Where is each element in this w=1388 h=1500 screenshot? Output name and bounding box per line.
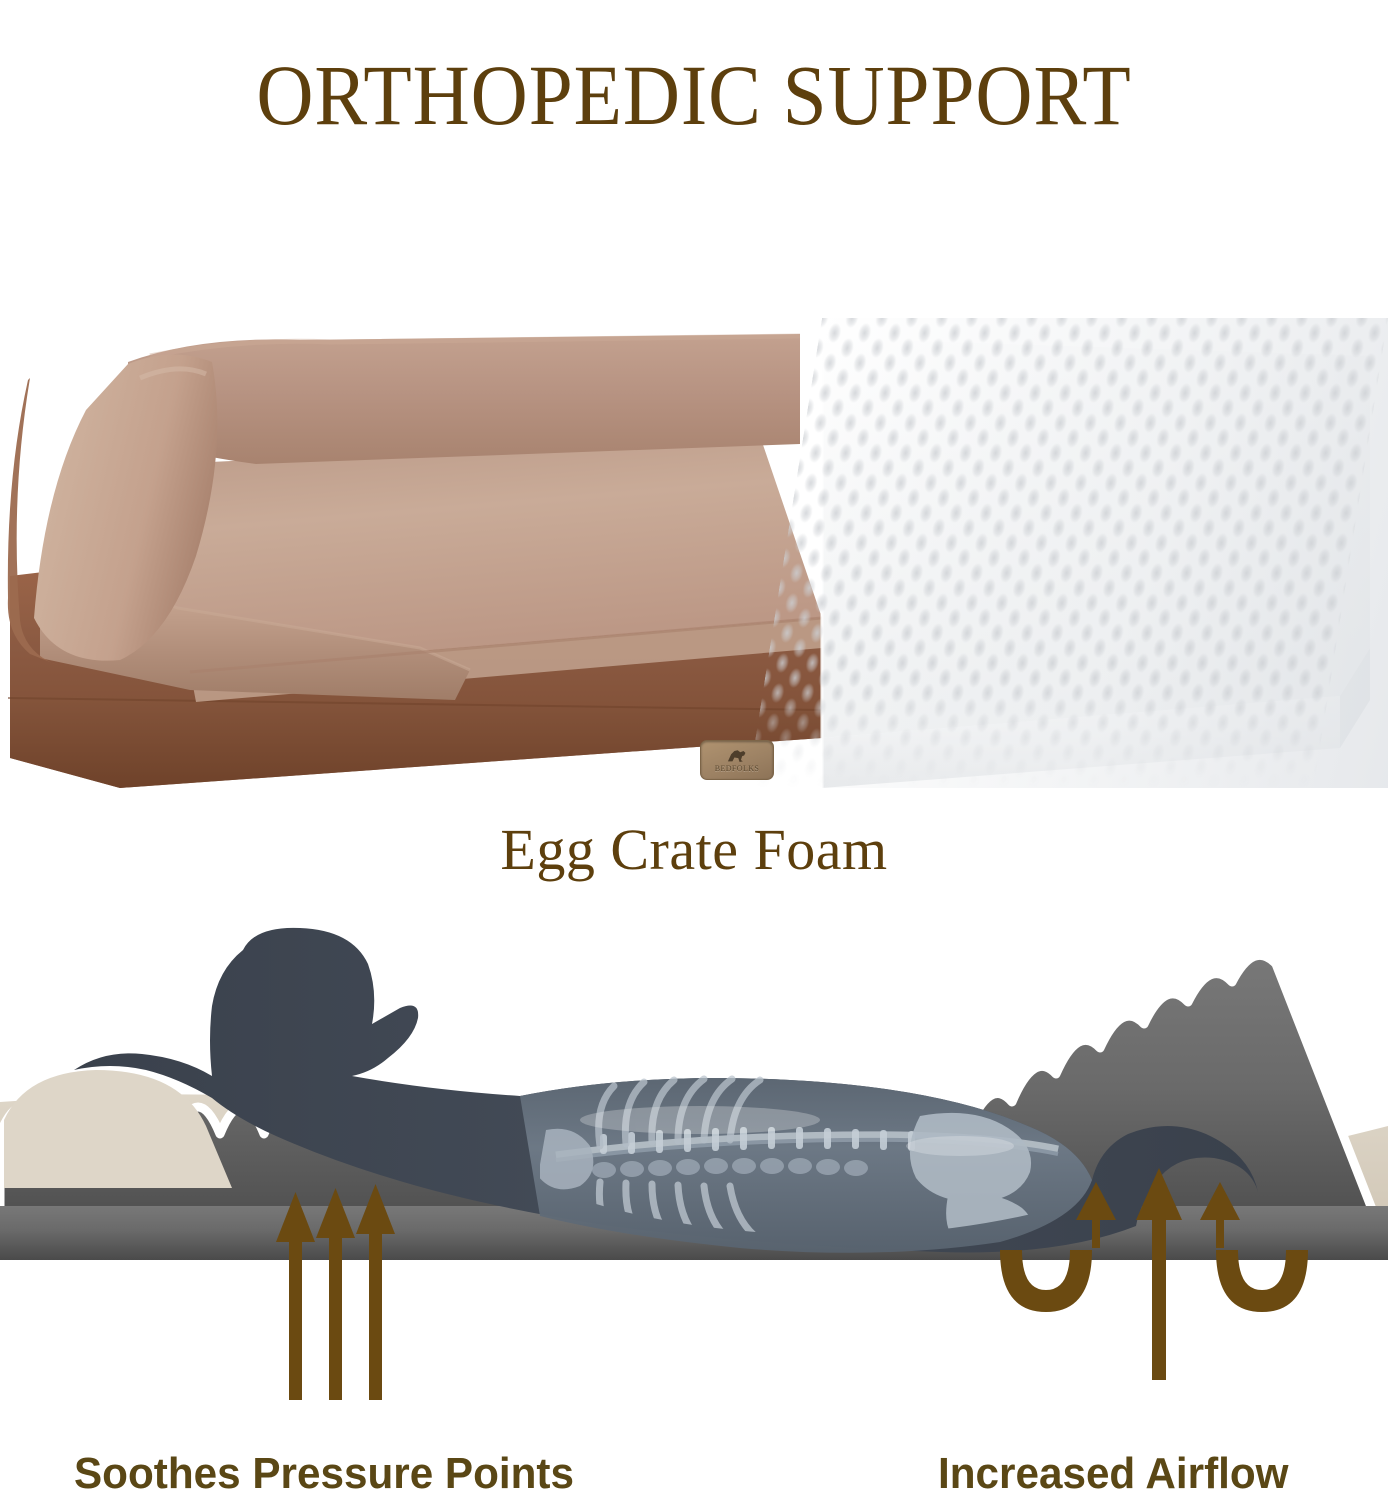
dog-bed-illustration (0, 318, 1388, 818)
foam-caption: Egg Crate Foam (0, 817, 1388, 884)
label-increased-airflow: Increased Airflow (938, 1448, 1289, 1500)
product-photo (0, 318, 1388, 818)
cross-section-diagram (0, 920, 1388, 1420)
egg-crate-foam-block (822, 338, 1370, 788)
pressure-point-arrows (276, 1184, 395, 1400)
brand-tag: BEDFOLKS (700, 740, 774, 780)
infographic-page: ORTHOPEDIC SUPPORT (0, 0, 1388, 1500)
page-title: ORTHOPEDIC SUPPORT (56, 52, 1333, 138)
dog-silhouette-icon (724, 747, 750, 764)
label-soothes-pressure-points: Soothes Pressure Points (74, 1448, 574, 1500)
brand-tag-text: BEDFOLKS (715, 765, 760, 773)
bed-back-bolster (128, 334, 800, 464)
benefit-labels: Soothes Pressure Points Increased Airflo… (0, 1448, 1388, 1500)
